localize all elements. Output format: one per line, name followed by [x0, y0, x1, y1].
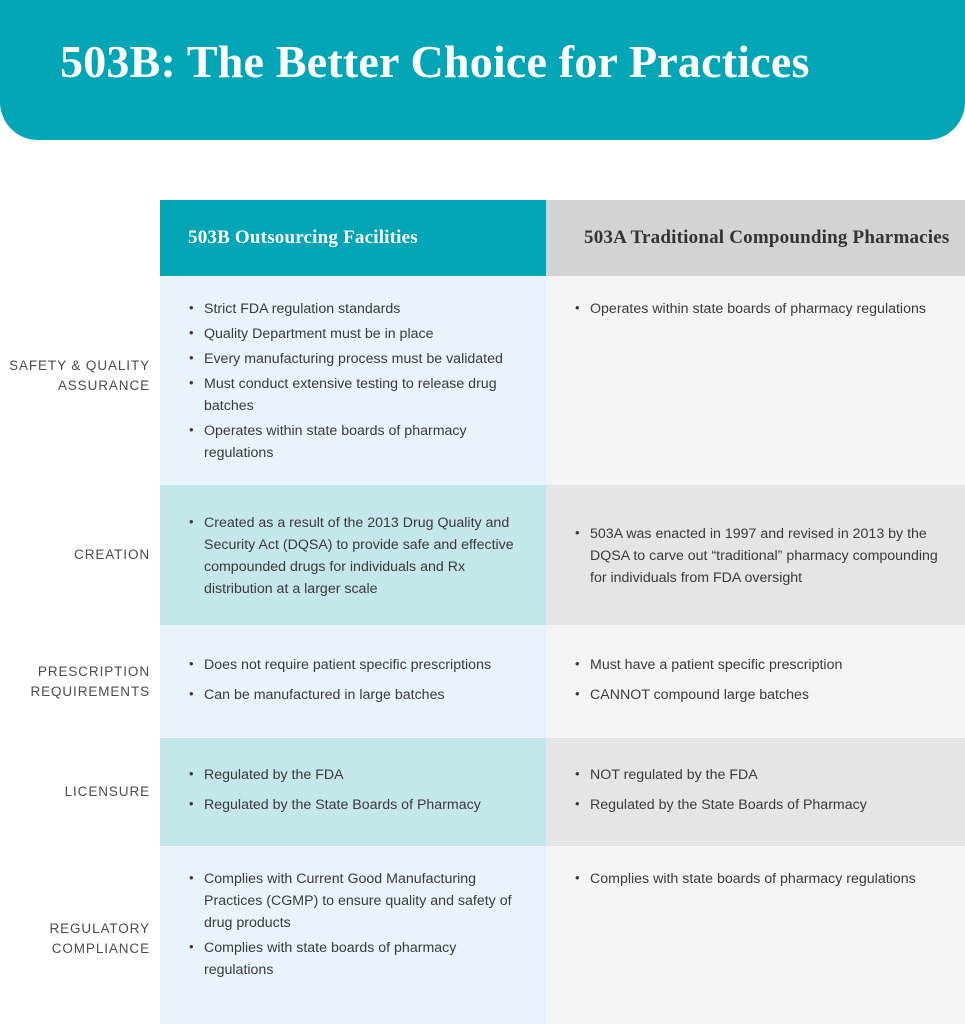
table-row: CREATION Created as a result of the 2013…: [0, 485, 965, 625]
row-label-licensure: LICENSURE: [0, 738, 160, 846]
bullet-item: NOT regulated by the FDA: [590, 764, 939, 786]
column-header-503a: 503A Traditional Compounding Pharmacies: [546, 200, 965, 276]
cell-503b-prescription-requirements: Does not require patient specific prescr…: [160, 625, 546, 738]
bullet-item: Created as a result of the 2013 Drug Qua…: [204, 512, 520, 600]
cell-503b-creation: Created as a result of the 2013 Drug Qua…: [160, 485, 546, 625]
bullet-list: 503A was enacted in 1997 and revised in …: [572, 523, 939, 592]
table-header-row: 503B Outsourcing Facilities 503A Traditi…: [0, 200, 965, 276]
bullet-list: Complies with Current Good Manufacturing…: [186, 868, 520, 981]
row-label-safety-quality-assurance: SAFETY & QUALITY ASSURANCE: [0, 276, 160, 476]
bullet-item: Complies with state boards of pharmacy r…: [590, 868, 939, 890]
bullet-item: Regulated by the State Boards of Pharmac…: [590, 794, 939, 816]
cell-503b-safety-quality-assurance: Strict FDA regulation standardsQuality D…: [160, 276, 546, 485]
bullet-item: Regulated by the State Boards of Pharmac…: [204, 794, 520, 816]
comparison-table: 503B Outsourcing Facilities 503A Traditi…: [0, 200, 965, 1024]
bullet-item: 503A was enacted in 1997 and revised in …: [590, 523, 939, 589]
bullet-list: Must have a patient specific prescriptio…: [572, 654, 939, 714]
bullet-item: CANNOT compound large batches: [590, 684, 939, 706]
bullet-list: Created as a result of the 2013 Drug Qua…: [186, 512, 520, 603]
table-row: SAFETY & QUALITY ASSURANCE Strict FDA re…: [0, 276, 965, 485]
bullet-list: Complies with state boards of pharmacy r…: [572, 868, 939, 890]
bullet-item: Complies with Current Good Manufacturing…: [204, 868, 520, 934]
bullet-item: Can be manufactured in large batches: [204, 684, 520, 706]
row-label-prescription-requirements: PRESCRIPTION REQUIREMENTS: [0, 625, 160, 738]
cell-503a-creation: 503A was enacted in 1997 and revised in …: [546, 485, 965, 625]
cell-503a-licensure: NOT regulated by the FDARegulated by the…: [546, 738, 965, 846]
bullet-list: Regulated by the FDARegulated by the Sta…: [186, 764, 520, 824]
bullet-item: Operates within state boards of pharmacy…: [204, 420, 520, 464]
bullet-item: Quality Department must be in place: [204, 323, 520, 345]
bullet-item: Must have a patient specific prescriptio…: [590, 654, 939, 676]
cell-503b-regulatory-compliance: Complies with Current Good Manufacturing…: [160, 846, 546, 1024]
page-title: 503B: The Better Choice for Practices: [60, 36, 810, 89]
table-row: REGULATORY COMPLIANCE Complies with Curr…: [0, 846, 965, 1024]
bullet-list: Operates within state boards of pharmacy…: [572, 298, 939, 320]
bullet-item: Regulated by the FDA: [204, 764, 520, 786]
column-header-503b: 503B Outsourcing Facilities: [160, 200, 546, 276]
column-header-503a-label: 503A Traditional Compounding Pharmacies: [584, 227, 950, 249]
header-row-label-spacer: [0, 200, 160, 276]
cell-503a-regulatory-compliance: Complies with state boards of pharmacy r…: [546, 846, 965, 1024]
table-row: LICENSURE Regulated by the FDARegulated …: [0, 738, 965, 846]
bullet-item: Every manufacturing process must be vali…: [204, 348, 520, 370]
bullet-item: Complies with state boards of pharmacy r…: [204, 937, 520, 981]
bullet-list: Strict FDA regulation standardsQuality D…: [186, 298, 520, 464]
bullet-list: Does not require patient specific prescr…: [186, 654, 520, 714]
column-header-503b-label: 503B Outsourcing Facilities: [188, 227, 418, 249]
bullet-list: NOT regulated by the FDARegulated by the…: [572, 764, 939, 824]
cell-503b-licensure: Regulated by the FDARegulated by the Sta…: [160, 738, 546, 846]
bullet-item: Strict FDA regulation standards: [204, 298, 520, 320]
table-row: PRESCRIPTION REQUIREMENTS Does not requi…: [0, 625, 965, 738]
row-label-creation: CREATION: [0, 485, 160, 625]
cell-503a-safety-quality-assurance: Operates within state boards of pharmacy…: [546, 276, 965, 485]
cell-503a-prescription-requirements: Must have a patient specific prescriptio…: [546, 625, 965, 738]
row-label-regulatory-compliance: REGULATORY COMPLIANCE: [0, 846, 160, 1024]
comparison-infographic: 503B: The Better Choice for Practices 50…: [0, 0, 965, 1024]
bullet-item: Must conduct extensive testing to releas…: [204, 373, 520, 417]
bullet-item: Operates within state boards of pharmacy…: [590, 298, 939, 320]
bullet-item: Does not require patient specific prescr…: [204, 654, 520, 676]
page-banner: 503B: The Better Choice for Practices: [0, 0, 965, 140]
